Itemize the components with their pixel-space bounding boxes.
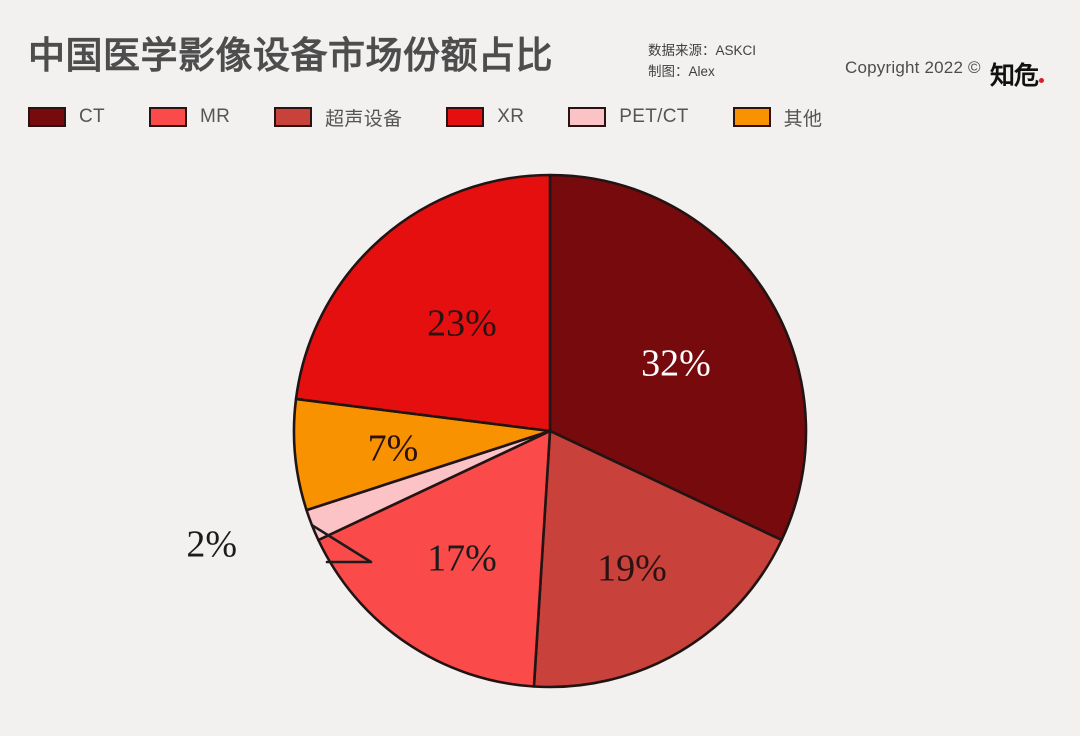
legend-swatch-icon [274, 107, 312, 127]
legend-label: PET/CT [619, 106, 688, 128]
copyright-text: Copyright 2022 © [845, 58, 981, 78]
brand-logo-text: 知危 [990, 62, 1038, 90]
legend-item-petct[interactable]: PET/CT [568, 106, 688, 128]
legend-label: 超声设备 [325, 104, 402, 131]
pie-slices-group [294, 175, 806, 687]
legend-item-mr[interactable]: MR [149, 106, 230, 128]
pie-slice-label-4: 2% [186, 524, 237, 566]
pie-slice-6[interactable] [296, 175, 550, 431]
pie-labels-group: 32%19%17%2%7%23% [186, 303, 710, 590]
legend-swatch-icon [149, 107, 187, 127]
page-title: 中国医学影像设备市场份额占比 [28, 34, 553, 78]
legend-label: MR [200, 106, 230, 128]
pie-slice-label-2: 19% [597, 548, 667, 590]
legend-swatch-icon [28, 107, 66, 127]
source-data-label: 数据来源：ASKCI [648, 40, 756, 61]
chart-page: 中国医学影像设备市场份额占比 数据来源：ASKCI 制图：Alex Copyri… [0, 0, 1080, 736]
legend-swatch-icon [446, 107, 484, 127]
legend-swatch-icon [733, 107, 771, 127]
brand-logo: 知危 [990, 56, 1044, 92]
pie-slice-label-6: 23% [427, 303, 497, 345]
pie-slice-1[interactable] [550, 175, 806, 540]
brand-dot-icon [1039, 78, 1044, 83]
pie-slice-5[interactable] [294, 399, 550, 510]
chart-legend: CT MR 超声设备 XR PET/CT 其他 [28, 103, 866, 131]
chart-header: 中国医学影像设备市场份额占比 数据来源：ASKCI 制图：Alex Copyri… [0, 0, 1080, 96]
legend-label: XR [497, 106, 524, 128]
pie-slice-label-5: 7% [368, 428, 419, 470]
legend-item-other[interactable]: 其他 [733, 104, 823, 131]
legend-item-xr[interactable]: XR [446, 106, 524, 128]
source-author-label: 制图：Alex [648, 61, 756, 82]
pie-slice-label-3: 17% [427, 538, 497, 580]
pie-slice-4[interactable] [307, 431, 550, 540]
legend-item-ultrasound[interactable]: 超声设备 [274, 104, 402, 131]
legend-label: 其他 [784, 104, 823, 131]
pie-slice-label-1: 32% [641, 343, 711, 385]
pie-leader-line-4 [312, 525, 371, 562]
source-credits: 数据来源：ASKCI 制图：Alex [648, 40, 756, 82]
legend-swatch-icon [568, 107, 606, 127]
legend-item-ct[interactable]: CT [28, 106, 105, 128]
pie-slice-3[interactable] [318, 431, 550, 686]
pie-leader-lines-group [312, 525, 371, 562]
pie-slice-2[interactable] [534, 431, 782, 687]
legend-label: CT [79, 106, 105, 128]
